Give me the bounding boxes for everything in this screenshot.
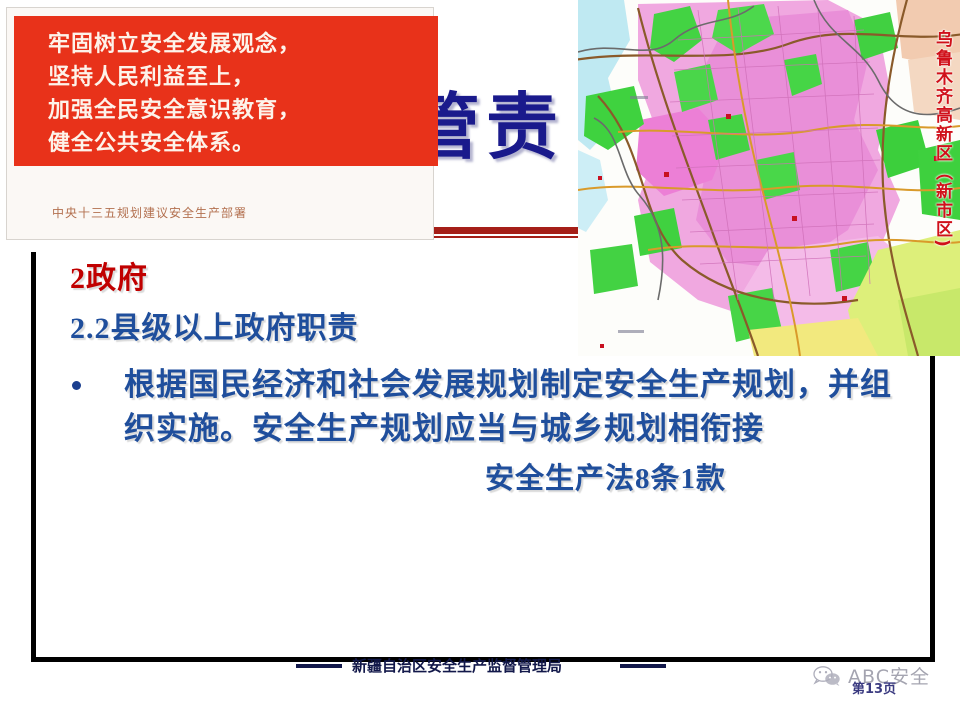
outline-level1-heading: 2政府 — [70, 253, 148, 297]
poster-red-panel: 牢固树立安全发展观念， 坚持人民利益至上， 加强全民安全意识教育， 健全公共安全… — [14, 16, 438, 166]
outline-level2-heading: 2.2县级以上政府职责 — [70, 303, 359, 347]
map-image: 乌鲁木齐高新区（新市区) — [578, 0, 960, 356]
slide-canvas: 监管责 牢固树立安全发展观念， 坚持人民利益至上， 加强全民安全意识教育， 健全… — [0, 0, 960, 720]
bullet-item: 根据国民经济和社会发展规划制定安全生产规划，并组织实施。安全生产规划应当与城乡规… — [62, 363, 922, 451]
footer-organization: 新疆自治区安全生产监督管理局 — [352, 655, 562, 676]
poster-line-1: 牢固树立安全发展观念， — [48, 28, 438, 61]
poster-card: 牢固树立安全发展观念， 坚持人民利益至上， 加强全民安全意识教育， 健全公共安全… — [6, 7, 434, 240]
poster-line-4: 健全公共安全体系。 — [48, 127, 438, 160]
footer-rule-right — [620, 664, 666, 668]
frame-border-right — [930, 352, 935, 662]
poster-line-3: 加强全民安全意识教育， — [48, 94, 438, 127]
map-region-label: 乌鲁木齐高新区（新市区) — [930, 30, 955, 249]
footer-rule-left — [296, 664, 342, 668]
bullet-dot-icon — [72, 381, 81, 390]
wechat-icon — [812, 665, 842, 687]
map-graphic — [578, 0, 960, 356]
bullet-item-text: 根据国民经济和社会发展规划制定安全生产规划，并组织实施。安全生产规划应当与城乡规… — [62, 363, 922, 451]
page-number: 第13页 — [852, 678, 896, 697]
poster-line-2: 坚持人民利益至上， — [48, 61, 438, 94]
frame-border-left — [31, 252, 36, 662]
poster-caption: 中央十三五规划建议安全生产部署 — [52, 204, 247, 221]
legal-citation: 安全生产法8条1款 — [485, 455, 726, 497]
